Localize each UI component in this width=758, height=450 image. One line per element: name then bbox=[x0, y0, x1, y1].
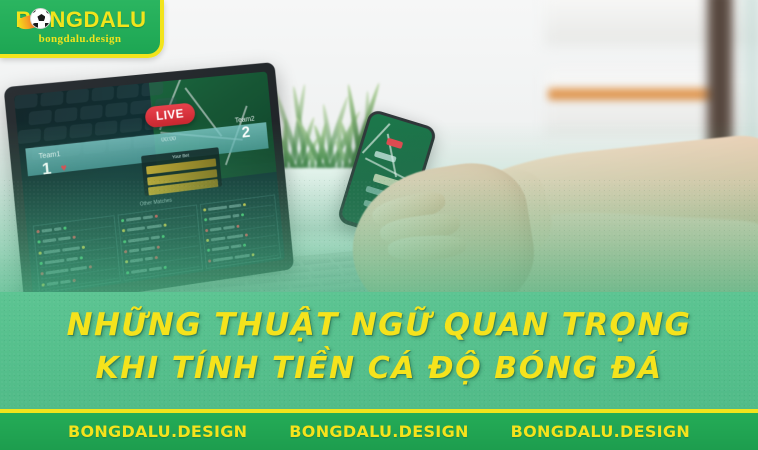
laptop-lid: LIVE Team1 1 ♥ Team2 2 00:00 Your Bet Ot… bbox=[4, 62, 295, 309]
odds-bar bbox=[46, 269, 69, 275]
wooden-rail bbox=[548, 88, 720, 100]
status-dot bbox=[121, 219, 124, 222]
heart-icon: ♥ bbox=[60, 163, 67, 175]
status-dot bbox=[41, 283, 44, 287]
odds-bar bbox=[141, 246, 155, 251]
score-left: 1 bbox=[41, 160, 52, 179]
footer-brand-1: BONGDALU.DESIGN bbox=[68, 422, 247, 441]
status-dot bbox=[36, 230, 39, 233]
status-dot bbox=[245, 234, 248, 237]
status-dot bbox=[241, 214, 244, 217]
hex-cell bbox=[120, 118, 142, 134]
odds-bar bbox=[54, 227, 62, 231]
odds-bar bbox=[44, 249, 61, 254]
status-dot bbox=[38, 251, 41, 255]
footer-brand-3: BONGDALU.DESIGN bbox=[511, 422, 690, 441]
odds-bar bbox=[210, 227, 222, 231]
odds-bar bbox=[143, 215, 153, 219]
status-dot bbox=[155, 215, 158, 218]
odds-column bbox=[118, 204, 203, 280]
odds-bar bbox=[145, 257, 153, 261]
hex-cell bbox=[14, 93, 38, 109]
hex-cell bbox=[80, 104, 103, 120]
odds-bar bbox=[151, 235, 160, 239]
ball-shape bbox=[30, 8, 51, 29]
odds-bar bbox=[211, 246, 228, 251]
odds-bar bbox=[130, 258, 143, 263]
status-dot bbox=[164, 224, 167, 227]
hex-cell bbox=[44, 126, 67, 142]
odds-bar bbox=[234, 254, 249, 259]
status-dot bbox=[72, 279, 75, 282]
hex-cell bbox=[54, 107, 77, 123]
status-dot bbox=[125, 260, 128, 263]
odds-bar bbox=[212, 256, 232, 262]
odds-bar bbox=[149, 266, 162, 271]
odds-column bbox=[199, 194, 281, 269]
odds-bar bbox=[232, 214, 239, 218]
hex-cell bbox=[141, 81, 163, 96]
odds-bar bbox=[126, 217, 141, 222]
logo-text-after: NGDALU bbox=[49, 7, 146, 32]
status-dot bbox=[243, 203, 246, 206]
footer-brand-2: BONGDALU.DESIGN bbox=[289, 422, 468, 441]
status-dot bbox=[162, 235, 165, 238]
odds-bar bbox=[211, 237, 226, 242]
odds-bar bbox=[227, 234, 243, 239]
odds-bar bbox=[47, 281, 59, 286]
status-dot bbox=[89, 266, 92, 269]
status-dot bbox=[82, 245, 85, 248]
odds-bar bbox=[127, 227, 145, 232]
soccer-ball-icon bbox=[29, 8, 51, 30]
hex-cell bbox=[69, 123, 92, 139]
footer-bar: BONGDALU.DESIGN BONGDALU.DESIGN BONGDALU… bbox=[0, 413, 758, 450]
status-dot bbox=[73, 236, 76, 239]
odds-bar bbox=[129, 248, 139, 252]
odds-bar bbox=[45, 259, 65, 265]
odds-bar bbox=[128, 237, 149, 243]
odds-bar bbox=[228, 204, 241, 209]
status-dot bbox=[204, 219, 207, 222]
logo-badge[interactable]: BONGDALU bongdalu.design bbox=[0, 0, 164, 58]
laptop-screen: LIVE Team1 1 ♥ Team2 2 00:00 Your Bet Ot… bbox=[14, 71, 285, 296]
status-dot bbox=[164, 265, 167, 268]
status-dot bbox=[205, 229, 208, 232]
odds-bar bbox=[223, 225, 235, 229]
odds-bar bbox=[208, 206, 227, 211]
odds-bar bbox=[70, 266, 87, 271]
status-dot bbox=[207, 249, 210, 252]
status-dot bbox=[124, 250, 127, 253]
status-dot bbox=[122, 229, 125, 232]
status-dot bbox=[157, 246, 160, 249]
odds-bar bbox=[43, 239, 57, 244]
status-dot bbox=[126, 271, 129, 274]
odds-bar bbox=[230, 245, 241, 249]
status-dot bbox=[243, 244, 246, 247]
status-dot bbox=[203, 208, 206, 211]
odds-column bbox=[33, 215, 122, 293]
hex-cell bbox=[105, 102, 128, 117]
status-dot bbox=[155, 256, 158, 259]
promo-banner: LIVE Team1 1 ♥ Team2 2 00:00 Your Bet Ot… bbox=[0, 0, 758, 450]
hex-cell bbox=[66, 89, 89, 105]
odds-bar bbox=[58, 237, 71, 242]
odds-bar bbox=[131, 268, 147, 273]
odds-bar bbox=[147, 225, 162, 230]
odds-bar bbox=[209, 215, 231, 221]
hex-cell bbox=[28, 110, 51, 126]
status-dot bbox=[39, 262, 42, 266]
odds-bar bbox=[66, 257, 78, 262]
status-dot bbox=[40, 272, 43, 276]
status-dot bbox=[123, 240, 126, 243]
hex-cell bbox=[95, 120, 118, 136]
odds-bar bbox=[62, 246, 80, 251]
odds-bar bbox=[60, 279, 71, 284]
status-dot bbox=[80, 256, 83, 259]
status-dot bbox=[251, 253, 254, 256]
odds-bar bbox=[42, 228, 53, 232]
logo-subtitle: bongdalu.design bbox=[39, 34, 122, 45]
hex-cell bbox=[117, 84, 139, 99]
bet-slip-panel: Your Bet bbox=[141, 147, 222, 196]
status-dot bbox=[206, 239, 209, 242]
hex-cell bbox=[40, 91, 63, 107]
green-solid-band bbox=[0, 292, 758, 410]
hex-cell bbox=[91, 86, 114, 101]
status-dot bbox=[37, 241, 40, 244]
status-dot bbox=[63, 227, 66, 230]
logo-wordmark: BONGDALU bbox=[13, 9, 146, 31]
hex-cell bbox=[18, 128, 42, 144]
score-right: 2 bbox=[241, 124, 251, 142]
background-photo: LIVE Team1 1 ♥ Team2 2 00:00 Your Bet Ot… bbox=[0, 0, 758, 450]
status-dot bbox=[236, 225, 239, 228]
status-dot bbox=[208, 259, 211, 262]
